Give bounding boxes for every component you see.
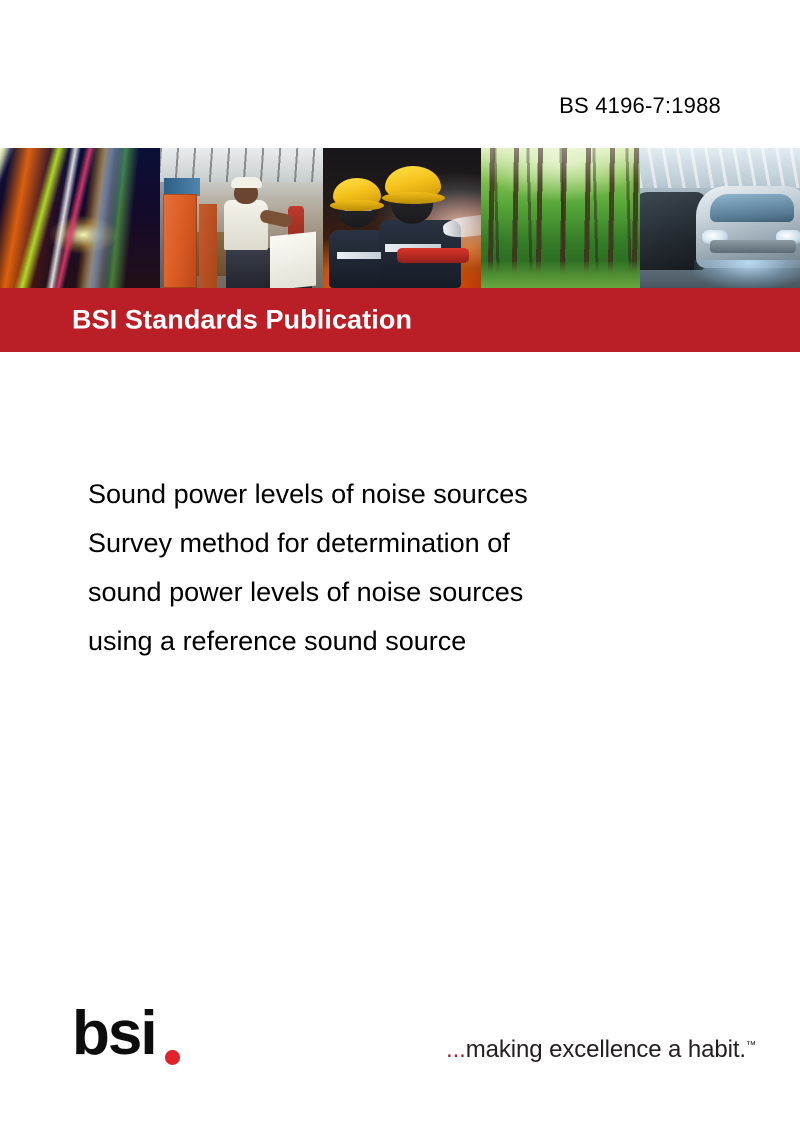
car-grille (710, 240, 796, 253)
bsi-tagline: ...making excellence a habit.™ (446, 1036, 756, 1064)
warehouse-worker-photo (160, 148, 323, 288)
tagline-text: making excellence a habit (466, 1036, 740, 1063)
document-title: Sound power levels of noise sources Surv… (88, 470, 708, 666)
title-line-3: sound power levels of noise sources (88, 568, 708, 617)
light-trails-traffic-photo (0, 148, 160, 288)
worker-cap (231, 177, 262, 188)
firefighters-photo (323, 148, 481, 288)
warehouse-orange-crate-back (199, 204, 217, 288)
bsi-logo-wordmark: bsi (72, 1002, 156, 1066)
tagline-period: . (739, 1036, 746, 1063)
bsi-logo: bsi (72, 1002, 202, 1072)
forest-floor (481, 262, 640, 288)
trademark-symbol: ™ (746, 1040, 756, 1051)
forest-trees-photo (481, 148, 640, 288)
worker-paper-sheet (270, 232, 316, 288)
water-jet-spray (442, 212, 481, 239)
standard-reference-number: BS 4196-7:1988 (559, 93, 721, 119)
firefighter-left-helmet-brim (330, 200, 384, 211)
bsi-standards-publication-band: BSI Standards Publication (0, 288, 800, 352)
car-assembly-line-photo (640, 148, 800, 288)
title-line-1: Sound power levels of noise sources (88, 470, 708, 519)
bsi-standard-cover-page: { "document": { "standard_reference": "B… (0, 0, 800, 1132)
publication-band-label: BSI Standards Publication (72, 305, 412, 336)
warehouse-orange-crate-front (163, 194, 197, 288)
tagline-ellipsis: ... (446, 1036, 466, 1063)
car-windshield (710, 194, 794, 222)
title-line-2: Survey method for determination of (88, 519, 708, 568)
cover-photo-strip (0, 148, 800, 288)
firefighter-left-reflective-stripe (337, 252, 381, 259)
worker-legs (226, 246, 264, 288)
bsi-logo-dot-icon (165, 1050, 180, 1065)
worker-torso (224, 200, 268, 250)
fire-hose-nozzle (397, 248, 469, 263)
factory-ceiling-lights (640, 148, 800, 188)
firefighter-right-helmet-brim (382, 192, 445, 204)
title-line-4: using a reference sound source (88, 617, 708, 666)
car-underglow-reflection (694, 260, 800, 288)
